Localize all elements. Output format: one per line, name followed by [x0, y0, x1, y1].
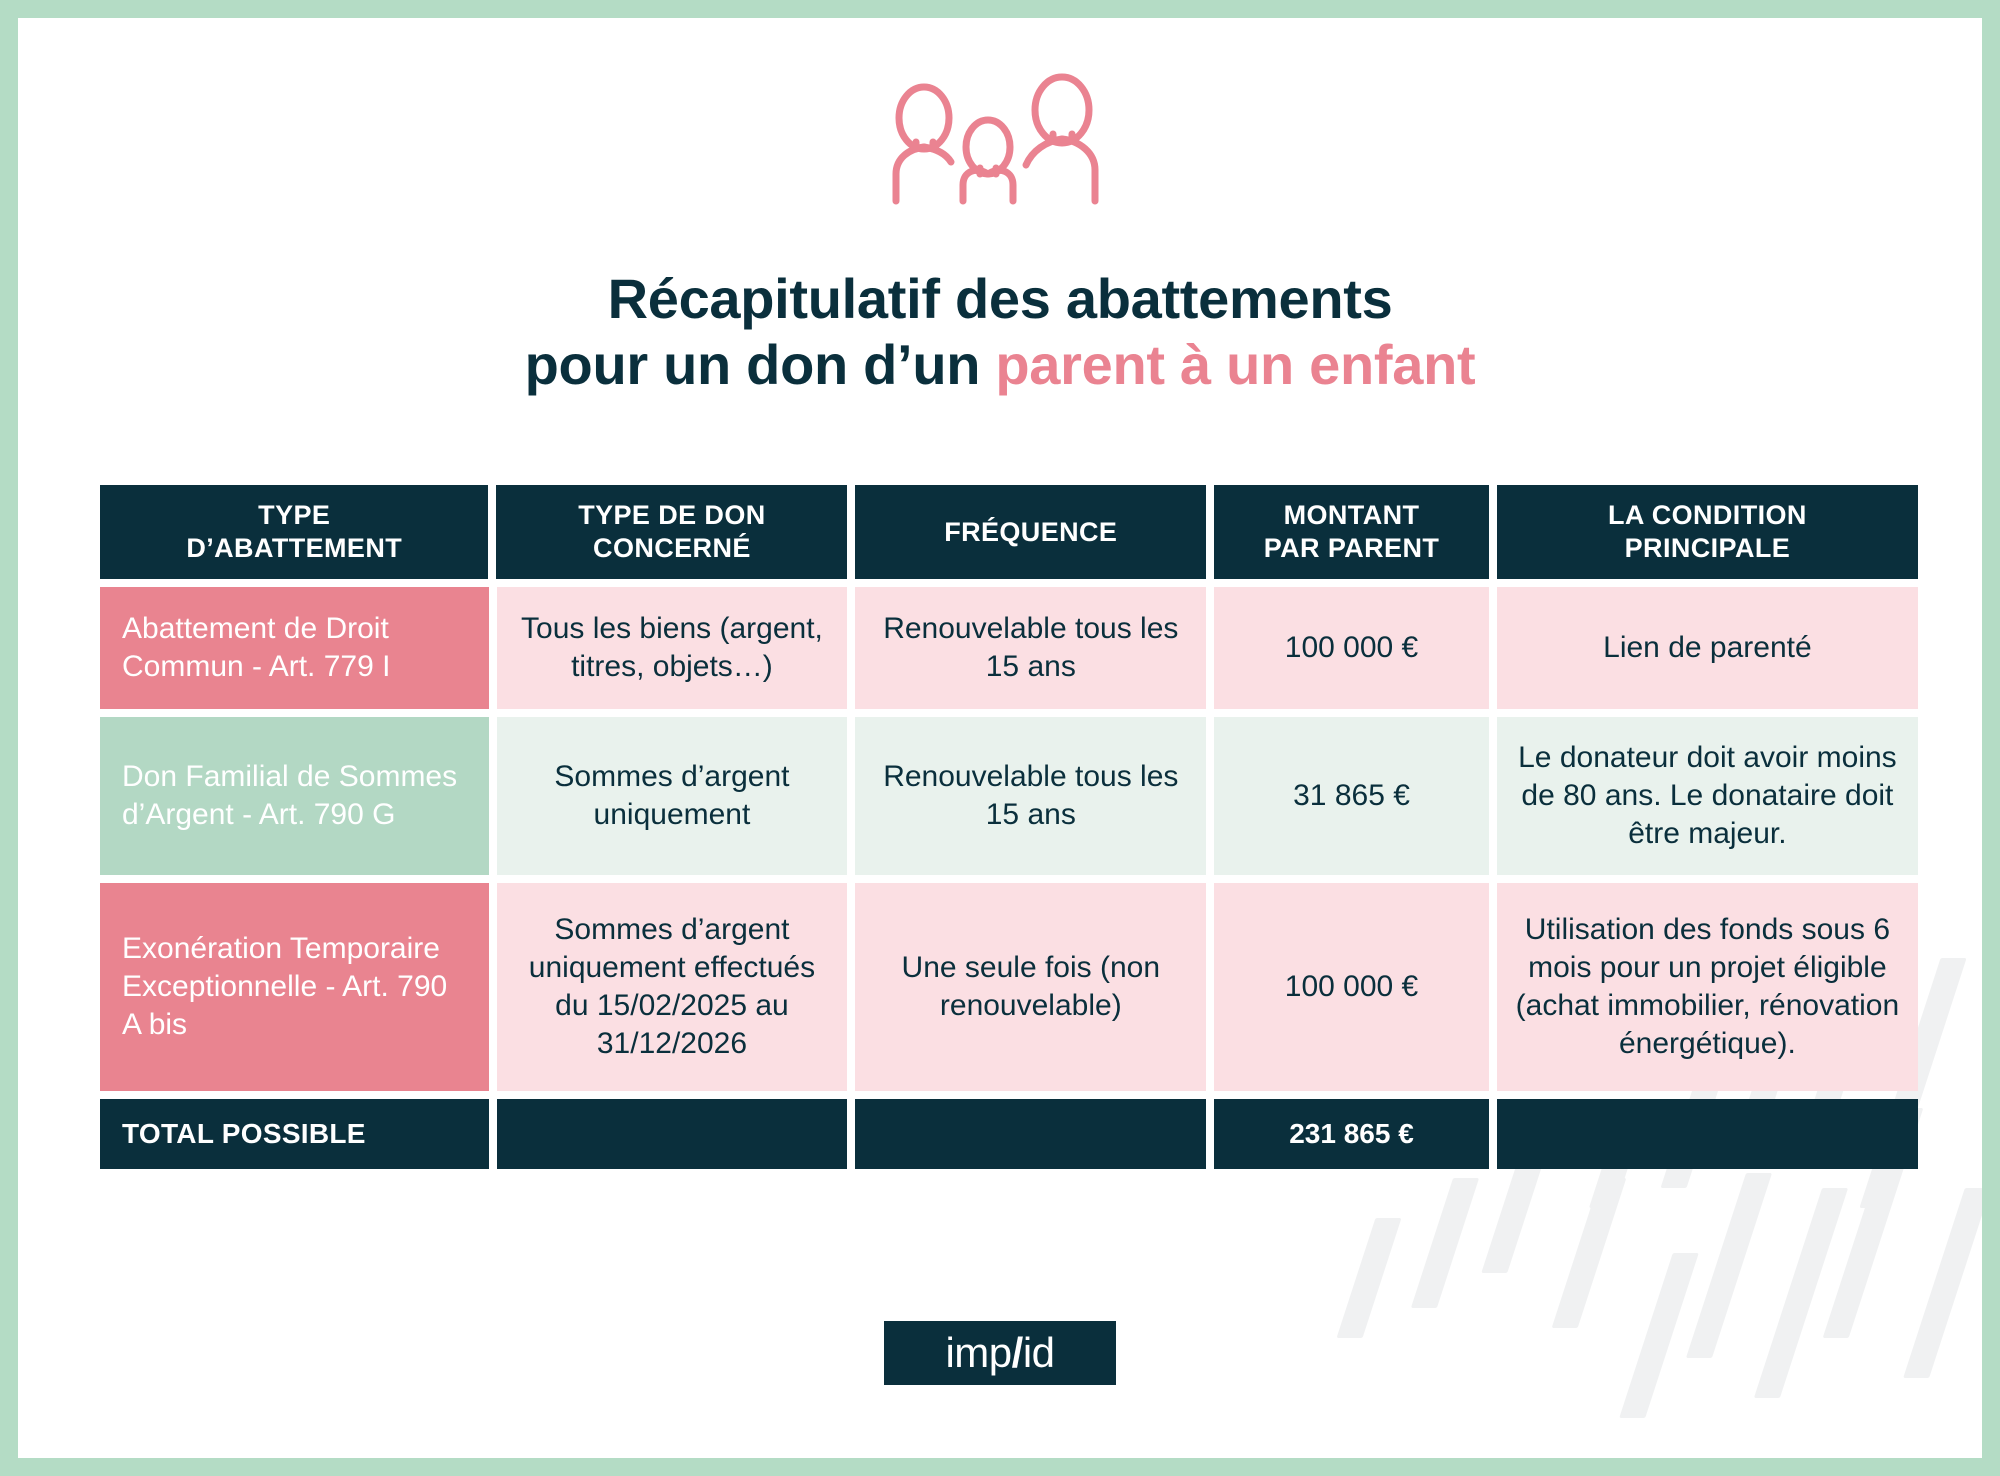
table-row: Don Familial de Sommes d’Argent - Art. 7… — [100, 717, 1918, 875]
col-head-line: CONCERNÉ — [578, 532, 765, 565]
cell-montant: 31 865 € — [1214, 717, 1489, 875]
cell-condition: Utilisation des fonds sous 6 mois pour u… — [1497, 883, 1918, 1091]
col-head-line: TYPE DE DON — [578, 499, 765, 532]
column-header-type-abattement: TYPE D’ABATTEMENT — [100, 485, 488, 579]
abatements-table: TYPE D’ABATTEMENT TYPE DE DON CONCERNÉ F… — [100, 485, 1918, 1169]
title-line-1: Récapitulatif des abattements — [18, 266, 1982, 332]
column-header-frequence: FRÉQUENCE — [855, 485, 1206, 579]
logo-part-1: imp — [945, 1329, 1011, 1377]
title-line-2: pour un don d’un parent à un enfant — [18, 332, 1982, 398]
table-header-row: TYPE D’ABATTEMENT TYPE DE DON CONCERNÉ F… — [100, 485, 1918, 579]
total-frequence — [855, 1099, 1206, 1169]
page-title: Récapitulatif des abattements pour un do… — [18, 266, 1982, 398]
cell-frequence: Renouvelable tous les 15 ans — [855, 587, 1206, 709]
col-head-line: PRINCIPALE — [1608, 532, 1807, 565]
family-people-icon — [880, 70, 1120, 210]
logo-slash: / — [1012, 1329, 1023, 1377]
row-label-abattement-droit-commun: Abattement de Droit Commun - Art. 779 I — [100, 587, 489, 709]
logo-part-2: id — [1023, 1329, 1055, 1377]
title-line-2-accent: parent à un enfant — [995, 333, 1475, 396]
column-header-type-de-don: TYPE DE DON CONCERNÉ — [496, 485, 847, 579]
col-head-line: PAR PARENT — [1264, 532, 1440, 565]
col-head-line: TYPE — [186, 499, 402, 532]
cell-condition: Lien de parenté — [1497, 587, 1918, 709]
total-label: TOTAL POSSIBLE — [100, 1099, 489, 1169]
total-montant: 231 865 € — [1214, 1099, 1489, 1169]
implid-logo: imp/id — [884, 1321, 1116, 1385]
infographic-page: Récapitulatif des abattements pour un do… — [0, 0, 2000, 1476]
cell-condition: Le donateur doit avoir moins de 80 ans. … — [1497, 717, 1918, 875]
cell-frequence: Une seule fois (non renouvelable) — [855, 883, 1206, 1091]
cell-frequence: Renouvelable tous les 15 ans — [855, 717, 1206, 875]
col-head-line: FRÉQUENCE — [944, 516, 1117, 549]
cell-type-de-don: Tous les biens (argent, titres, objets…) — [497, 587, 848, 709]
table-row: Abattement de Droit Commun - Art. 779 I … — [100, 587, 1918, 709]
col-head-line: MONTANT — [1264, 499, 1440, 532]
cell-montant: 100 000 € — [1214, 587, 1489, 709]
row-label-exoneration-temporaire-exceptionnelle: Exonération Temporaire Exceptionnelle - … — [100, 883, 489, 1091]
infographic-canvas: Récapitulatif des abattements pour un do… — [18, 18, 1982, 1458]
table-row: Exonération Temporaire Exceptionnelle - … — [100, 883, 1918, 1091]
column-header-montant-par-parent: MONTANT PAR PARENT — [1214, 485, 1489, 579]
cell-montant: 100 000 € — [1214, 883, 1489, 1091]
col-head-line: D’ABATTEMENT — [186, 532, 402, 565]
row-label-don-familial-sommes-argent: Don Familial de Sommes d’Argent - Art. 7… — [100, 717, 489, 875]
cell-type-de-don: Sommes d’argent uniquement — [497, 717, 848, 875]
title-line-2-prefix: pour un don d’un — [525, 333, 996, 396]
total-condition — [1497, 1099, 1918, 1169]
table-total-row: TOTAL POSSIBLE 231 865 € — [100, 1099, 1918, 1169]
col-head-line: LA CONDITION — [1608, 499, 1807, 532]
column-header-la-condition-principale: LA CONDITION PRINCIPALE — [1497, 485, 1918, 579]
cell-type-de-don: Sommes d’argent uniquement effectués du … — [497, 883, 848, 1091]
total-type-de-don — [497, 1099, 848, 1169]
